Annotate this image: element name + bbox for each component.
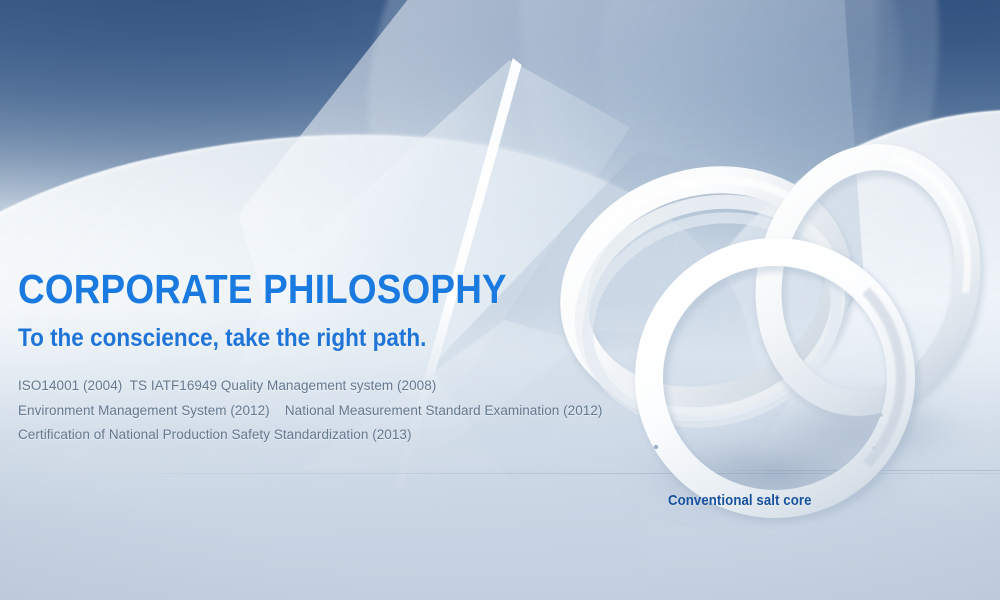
page-title: CORPORATE PHILOSOPHY — [18, 268, 576, 311]
certification-line: ISO14001 (2004) TS IATF16949 Quality Man… — [18, 374, 638, 399]
certification-line: Certification of National Production Saf… — [18, 423, 638, 448]
certification-line: Environment Management System (2012) Nat… — [18, 399, 638, 424]
page-subtitle: To the conscience, take the right path. — [18, 325, 576, 353]
text-content-block: CORPORATE PHILOSOPHY To the conscience, … — [18, 268, 638, 448]
corporate-philosophy-banner: CORPORATE PHILOSOPHY To the conscience, … — [0, 0, 1000, 600]
certification-list: ISO14001 (2004) TS IATF16949 Quality Man… — [18, 374, 638, 448]
product-caption: Conventional salt core — [668, 492, 812, 509]
